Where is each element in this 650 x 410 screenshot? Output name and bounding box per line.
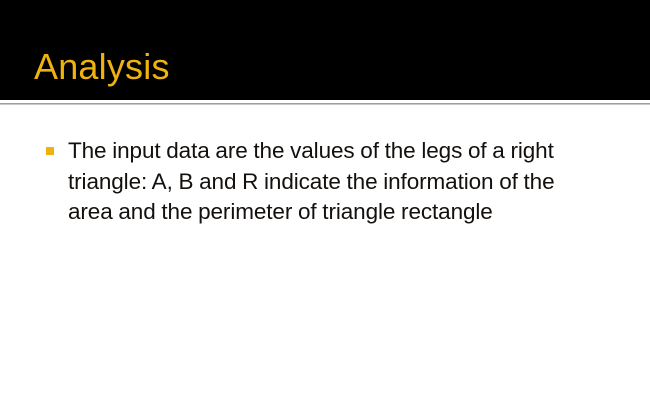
- list-item: The input data are the values of the leg…: [0, 136, 650, 228]
- square-bullet-icon: [46, 147, 54, 155]
- list-item-text: The input data are the values of the leg…: [68, 136, 598, 228]
- slide-title-band: Analysis: [0, 0, 650, 100]
- slide-content-area: The input data are the values of the leg…: [0, 106, 650, 410]
- bullet-list: The input data are the values of the leg…: [0, 136, 650, 228]
- page-title: Analysis: [34, 46, 170, 88]
- title-divider-rule: [0, 103, 650, 105]
- presentation-slide: Analysis The input data are the values o…: [0, 0, 650, 410]
